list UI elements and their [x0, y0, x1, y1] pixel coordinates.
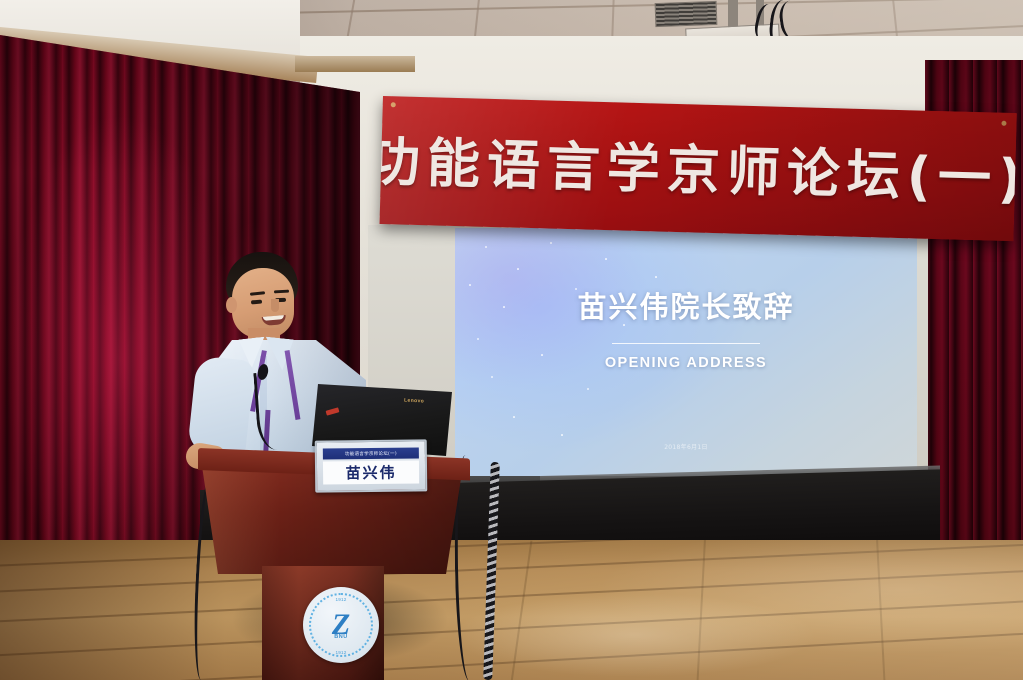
emblem-top-arc: 1912 [303, 597, 379, 602]
floor-reflection [0, 540, 1023, 680]
conference-hall-scene: 苗兴伟院长致辞 OPENING ADDRESS 2018年6月1日 功能语言学京… [0, 0, 1023, 680]
nameplate-header: 功能语言学京师论坛(一) [323, 447, 419, 459]
slide-date: 2018年6月1日 [455, 442, 917, 451]
slide-divider [612, 343, 760, 344]
projected-slide: 苗兴伟院长致辞 OPENING ADDRESS 2018年6月1日 [455, 228, 917, 486]
nameplate-name: 苗兴伟 [323, 460, 419, 484]
speaker-ear [226, 297, 237, 313]
speaker-nose [271, 299, 279, 312]
banner-text: 功能语言学京师论坛(一) [380, 120, 1017, 214]
laptop-brand-logo: Lenovo [404, 397, 424, 404]
slide-title: 苗兴伟院长致辞 [455, 284, 917, 326]
emblem-abbrev: BNU [303, 634, 379, 640]
nameplate-header-text: 功能语言学京师论坛(一) [345, 450, 397, 457]
slide-subtitle: OPENING ADDRESS [455, 355, 917, 371]
speaker-nameplate: 功能语言学京师论坛(一) 苗兴伟 [315, 439, 428, 492]
university-emblem: 1912 Z BNU 1912 [303, 587, 379, 663]
emblem-bottom-arc: 1912 [303, 650, 379, 655]
stage-floor [0, 540, 1023, 680]
event-banner: 功能语言学京师论坛(一) [380, 96, 1017, 241]
curtain-valance-right [295, 56, 415, 72]
speaker-arm [187, 355, 255, 457]
slide-content: 苗兴伟院长致辞 OPENING ADDRESS [455, 284, 917, 371]
emblem-ring [309, 593, 373, 657]
